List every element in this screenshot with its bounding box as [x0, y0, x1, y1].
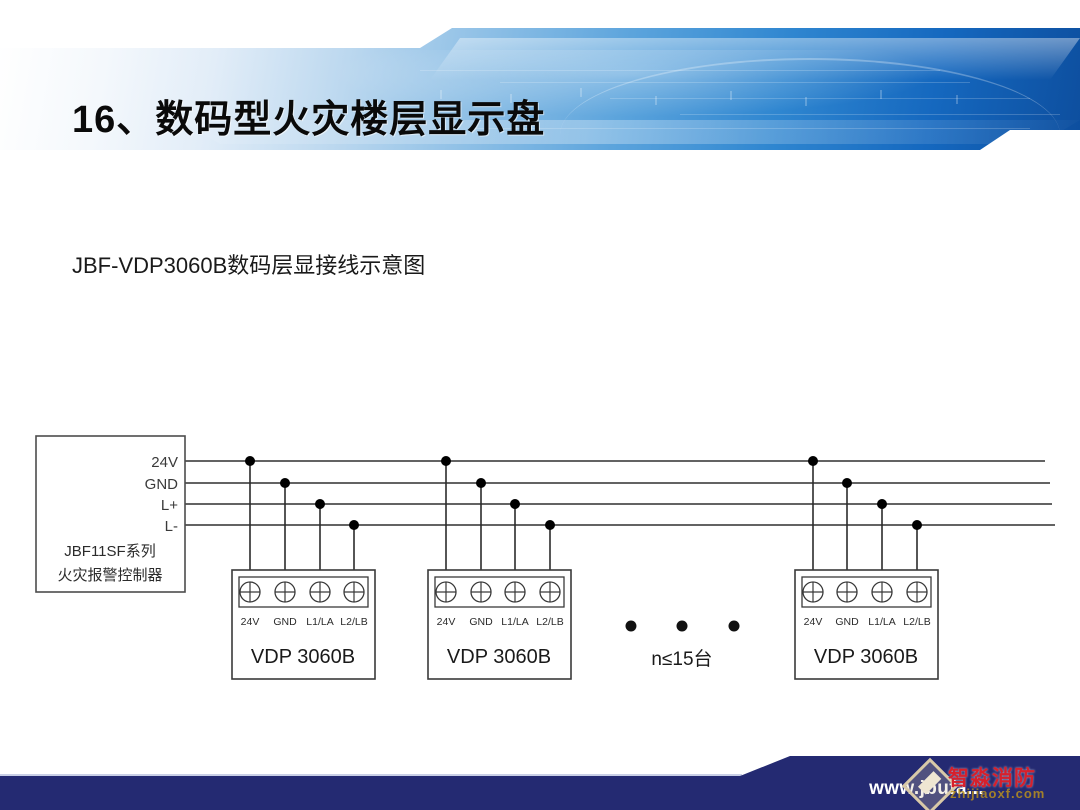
module-2-name: VDP 3060B	[447, 646, 551, 668]
controller-terminal-lminus: L-	[165, 518, 178, 535]
junction-dot-m3-l1	[877, 499, 887, 509]
module-2-label-l1: L1/LA	[501, 616, 528, 628]
module-1: 24V GND L1/LA L2/LB VDP 3060B	[232, 570, 375, 679]
module-2-label-l2: L2/LB	[536, 616, 563, 628]
module-2-label-24v: 24V	[437, 616, 456, 628]
module-1-label-24v: 24V	[241, 616, 260, 628]
junction-dot-m2-24v	[441, 456, 451, 466]
junction-dot-m2-l2	[545, 520, 555, 530]
module-3-label-gnd: GND	[835, 616, 859, 628]
continuation-note: n≤15台	[651, 648, 712, 670]
junction-dot-m2-gnd	[476, 478, 486, 488]
module-3-label-l2: L2/LB	[903, 616, 930, 628]
footer-banner: www.jbufa... 智淼消防 zhijiaoxf.com	[0, 752, 1080, 810]
module-3-label-24v: 24V	[804, 616, 823, 628]
module-1-label-l2: L2/LB	[340, 616, 367, 628]
junction-dot-m3-24v	[808, 456, 818, 466]
module-1-label-gnd: GND	[273, 616, 297, 628]
footer-divider-line	[0, 774, 742, 776]
controller-terminal-gnd: GND	[145, 476, 179, 493]
controller-terminal-lplus: L+	[161, 497, 178, 514]
wiring-diagram: 24V GND L+ L- JBF11SF系列 火灾报警控制器	[0, 0, 1080, 810]
module-3-label-l1: L1/LA	[868, 616, 895, 628]
continuation-dot-1	[626, 621, 637, 632]
module-3: 24V GND L1/LA L2/LB VDP 3060B	[795, 570, 938, 679]
controller-name-line2: 火灾报警控制器	[57, 567, 162, 584]
continuation-dots	[626, 621, 740, 632]
junction-dot-m1-24v	[245, 456, 255, 466]
continuation-dot-2	[677, 621, 688, 632]
junction-dot-m1-l1	[315, 499, 325, 509]
watermark-brand-en: zhijiaoxf.com	[950, 786, 1045, 801]
junction-dot-m1-l2	[349, 520, 359, 530]
slide-root: 16、数码型火灾楼层显示盘 JBF-VDP3060B数码层显接线示意图 24V …	[0, 0, 1080, 810]
continuation-dot-3	[729, 621, 740, 632]
module-2-label-gnd: GND	[469, 616, 493, 628]
module-1-label-l1: L1/LA	[306, 616, 333, 628]
module-3-name: VDP 3060B	[814, 646, 918, 668]
junction-dot-m2-l1	[510, 499, 520, 509]
module-2: 24V GND L1/LA L2/LB VDP 3060B	[428, 570, 571, 679]
controller-name-line1: JBF11SF系列	[64, 543, 155, 560]
junction-dot-m3-gnd	[842, 478, 852, 488]
watermark: 智淼消防 zhijiaoxf.com	[896, 756, 1076, 808]
controller-terminal-24v: 24V	[151, 454, 178, 471]
junction-dot-m3-l2	[912, 520, 922, 530]
module-1-name: VDP 3060B	[251, 646, 355, 668]
junction-dot-m1-gnd	[280, 478, 290, 488]
